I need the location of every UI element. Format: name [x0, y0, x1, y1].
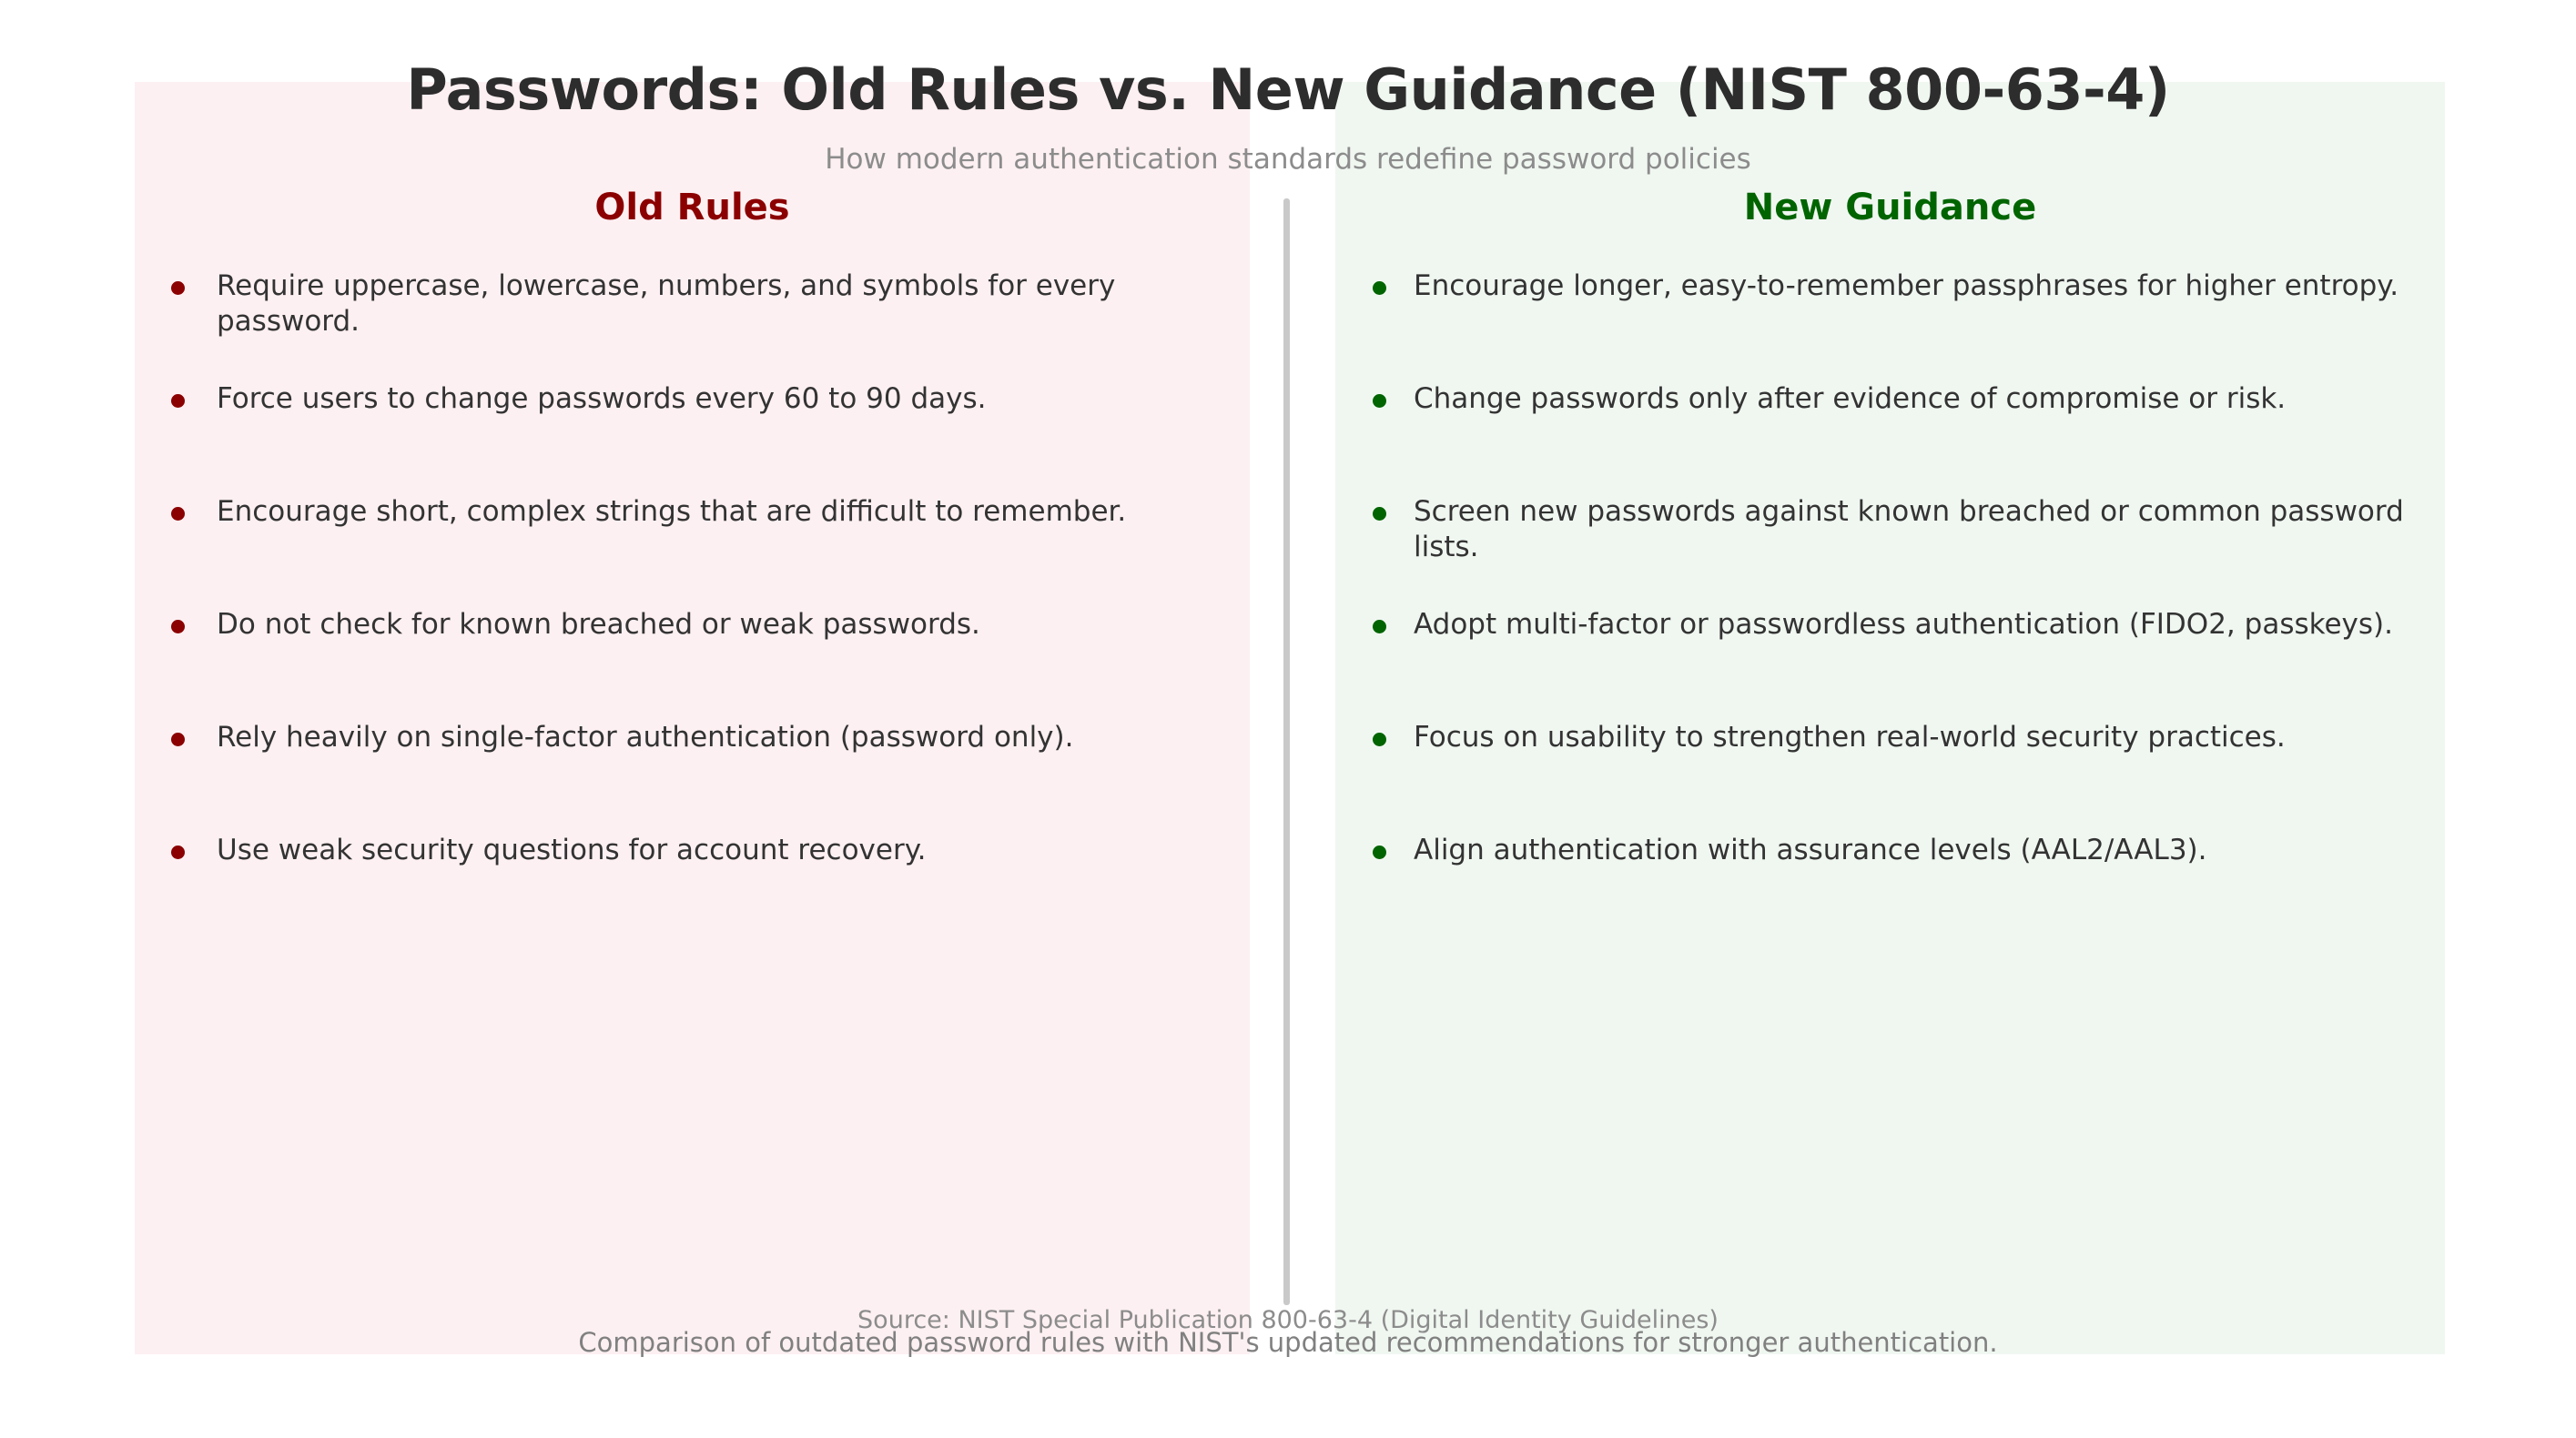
bullet-dot-icon — [1373, 846, 1386, 859]
bullet-dot-icon — [1373, 620, 1386, 633]
old-rules-heading: Old Rules — [135, 187, 1250, 228]
list-item-text: Adopt multi-factor or passwordless authe… — [1414, 607, 2439, 643]
list-item: Do not check for known breached or weak … — [164, 607, 1238, 720]
list-item: Focus on usability to strengthen real-wo… — [1365, 720, 2439, 833]
list-item: Force users to change passwords every 60… — [164, 381, 1238, 494]
list-item: Encourage longer, easy-to-remember passp… — [1365, 268, 2439, 381]
list-item-text: Encourage longer, easy-to-remember passp… — [1414, 268, 2439, 304]
column-divider — [1283, 198, 1290, 1305]
footer-caption: Comparison of outdated password rules wi… — [0, 1327, 2576, 1358]
bullet-dot-icon — [1373, 281, 1386, 295]
list-item-text: Require uppercase, lowercase, numbers, a… — [217, 268, 1238, 339]
list-item: Use weak security questions for account … — [164, 833, 1238, 946]
bullet-dot-icon — [171, 733, 185, 746]
bullet-dot-icon — [1373, 507, 1386, 521]
list-item-text: Rely heavily on single-factor authentica… — [217, 720, 1238, 755]
list-item: Require uppercase, lowercase, numbers, a… — [164, 268, 1238, 381]
old-rules-list: Require uppercase, lowercase, numbers, a… — [164, 268, 1238, 946]
list-item-text: Encourage short, complex strings that ar… — [217, 494, 1238, 530]
list-item-text: Focus on usability to strengthen real-wo… — [1414, 720, 2439, 755]
bullet-dot-icon — [1373, 394, 1386, 408]
bullet-dot-icon — [171, 281, 185, 295]
list-item-text: Change passwords only after evidence of … — [1414, 381, 2439, 417]
list-item: Encourage short, complex strings that ar… — [164, 494, 1238, 607]
new-guidance-list: Encourage longer, easy-to-remember passp… — [1365, 268, 2439, 946]
page-subtitle: How modern authentication standards rede… — [0, 143, 2576, 176]
list-item: Screen new passwords against known breac… — [1365, 494, 2439, 607]
list-item-text: Do not check for known breached or weak … — [217, 607, 1238, 643]
bullet-dot-icon — [171, 507, 185, 521]
bullet-dot-icon — [171, 620, 185, 633]
list-item-text: Use weak security questions for account … — [217, 833, 1238, 868]
list-item-text: Force users to change passwords every 60… — [217, 381, 1238, 417]
list-item: Rely heavily on single-factor authentica… — [164, 720, 1238, 833]
bullet-dot-icon — [171, 394, 185, 408]
list-item: Align authentication with assurance leve… — [1365, 833, 2439, 946]
bullet-dot-icon — [1373, 733, 1386, 746]
page-title: Passwords: Old Rules vs. New Guidance (N… — [0, 56, 2576, 123]
list-item: Adopt multi-factor or passwordless authe… — [1365, 607, 2439, 720]
bullet-dot-icon — [171, 846, 185, 859]
list-item: Change passwords only after evidence of … — [1365, 381, 2439, 494]
list-item-text: Screen new passwords against known breac… — [1414, 494, 2439, 565]
list-item-text: Align authentication with assurance leve… — [1414, 833, 2439, 868]
new-guidance-heading: New Guidance — [1335, 187, 2445, 228]
